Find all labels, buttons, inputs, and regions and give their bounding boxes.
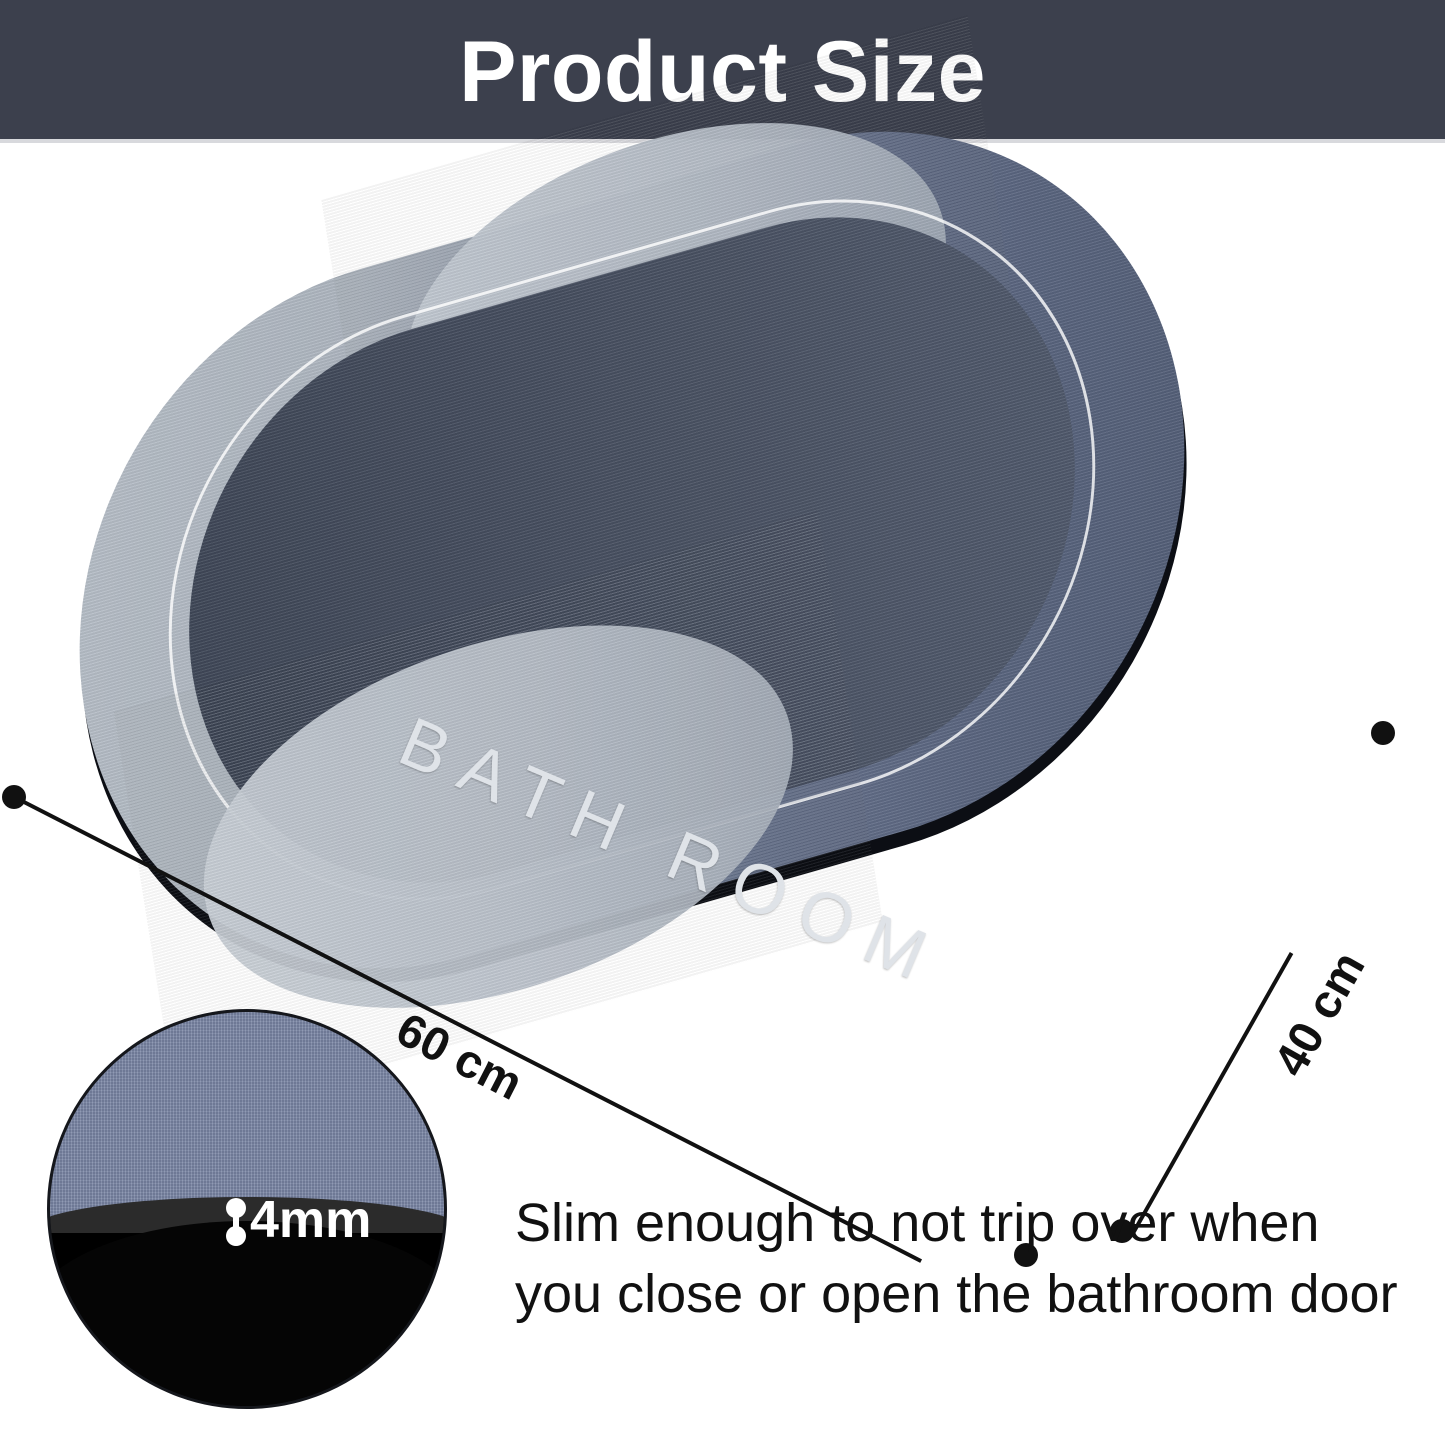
mat-illustration: BATH ROOM 60 cm 40 cm <box>0 143 1445 1143</box>
width-dimension-endpoint-end <box>1371 721 1395 745</box>
thickness-detail-circle: 4mm <box>47 1009 447 1409</box>
length-dimension-endpoint-start <box>2 785 26 809</box>
product-size-infographic: Product Size BATH ROOM 60 cm <box>0 0 1445 1445</box>
width-dimension-label: 40 cm <box>1262 942 1376 1085</box>
page-title: Product Size <box>459 29 986 115</box>
thickness-measure-icon <box>226 1198 246 1246</box>
mat-perspective-group <box>30 50 1235 1051</box>
feature-caption: Slim enough to not trip over when you cl… <box>515 1188 1415 1331</box>
thickness-marker-bottom-dot <box>226 1226 246 1246</box>
thickness-label: 4mm <box>250 1194 371 1246</box>
detail-top-surface <box>50 1012 444 1217</box>
detail-rubber-backing <box>47 1221 447 1409</box>
header-banner: Product Size <box>0 0 1445 143</box>
